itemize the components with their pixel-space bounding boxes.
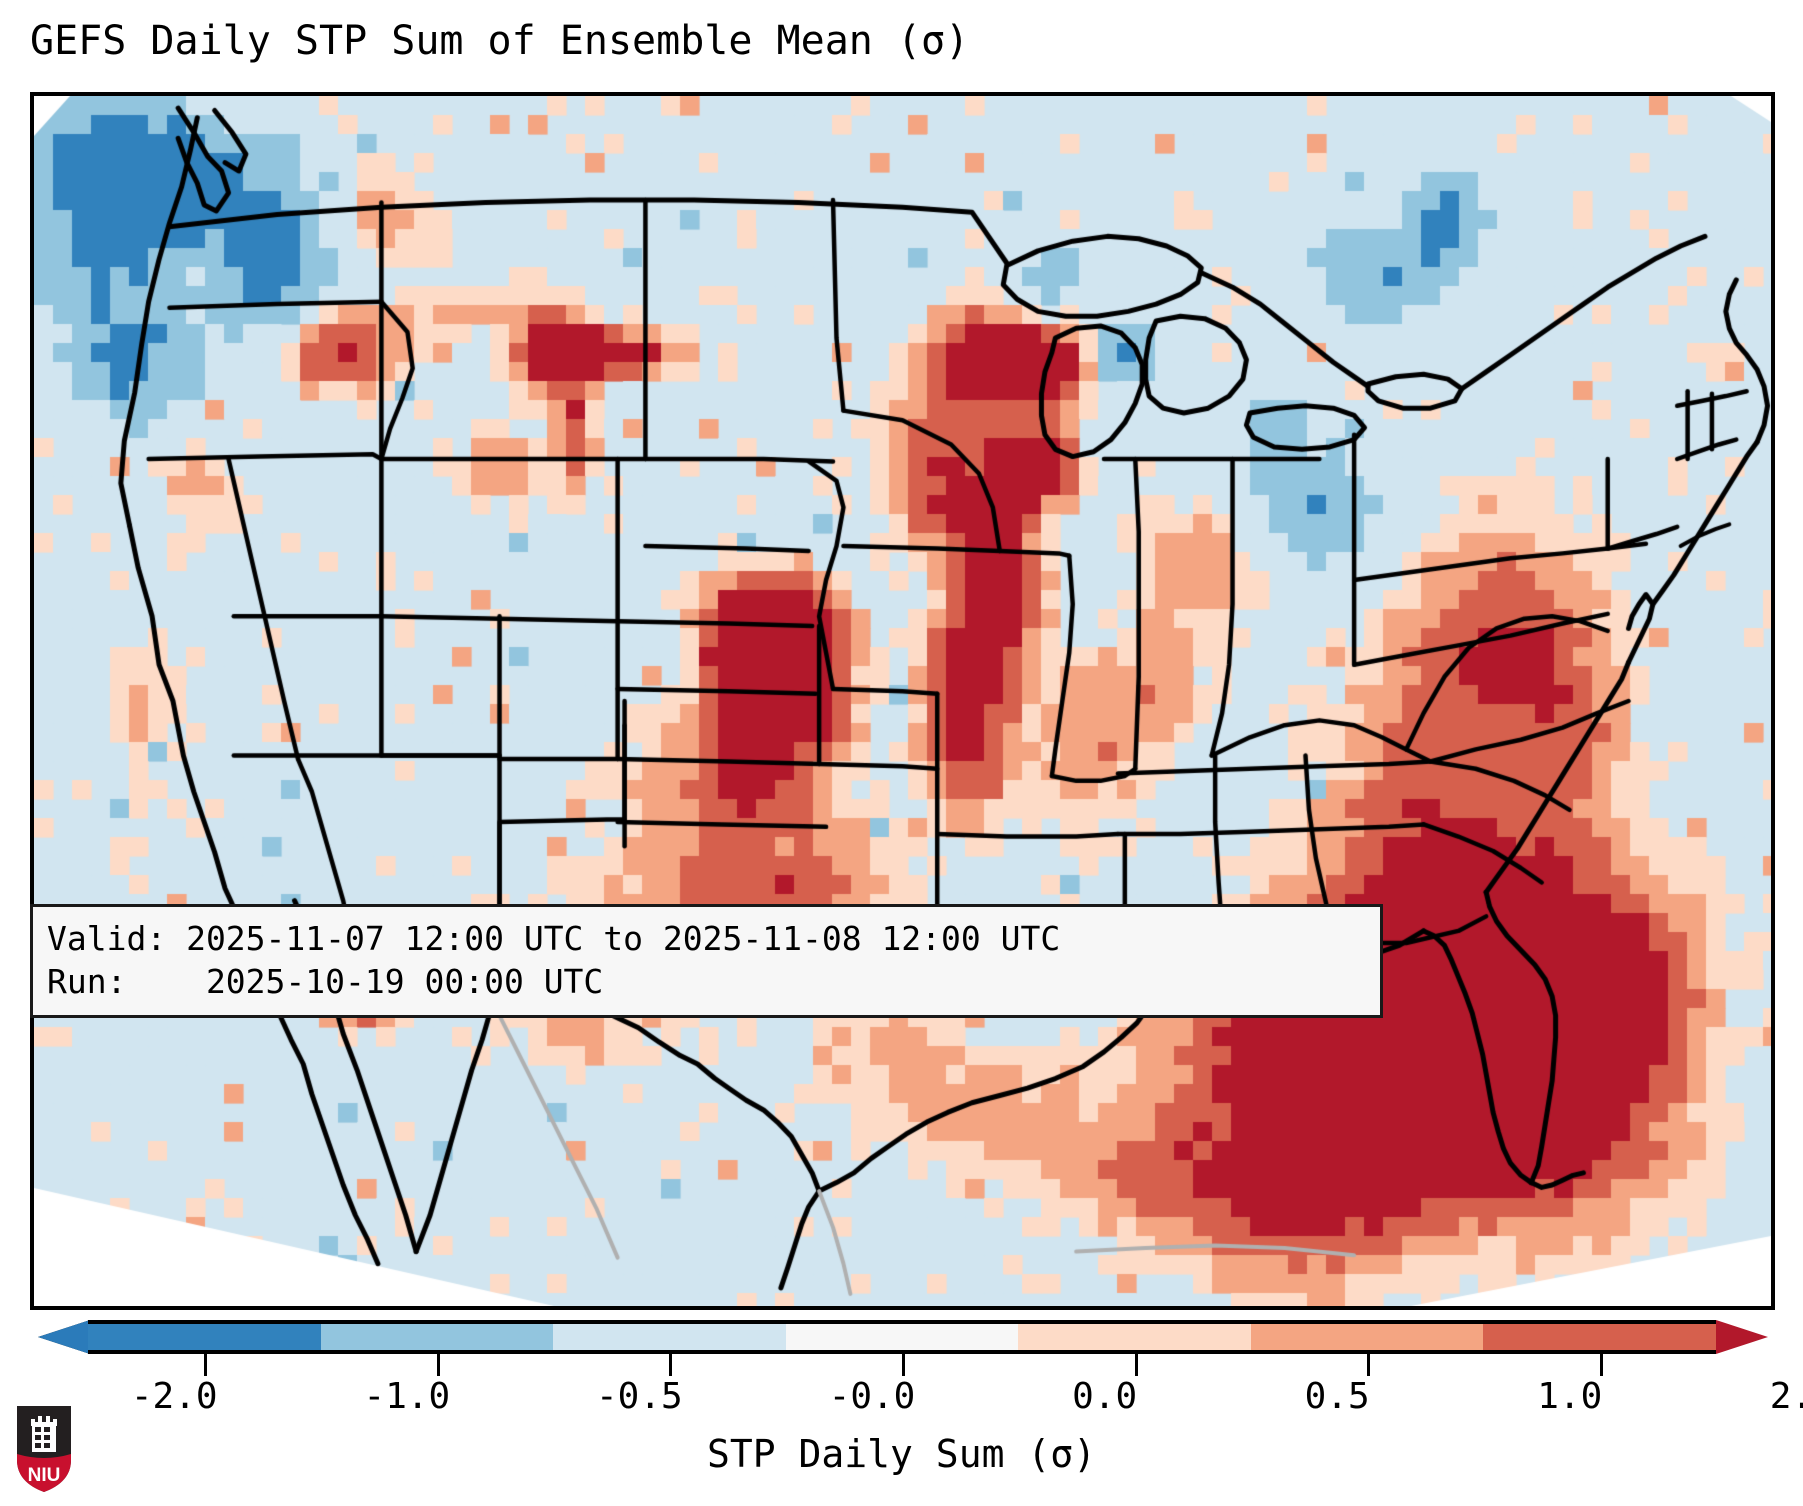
colorbar-tick-label-3: -0.0 [829, 1376, 916, 1417]
colorbar-tick-label-5: 0.5 [1305, 1376, 1370, 1417]
colorbar-axis-label: STP Daily Sum (σ) [0, 1432, 1803, 1476]
colorbar-segment-1 [321, 1324, 554, 1350]
colorbar-segment-0 [88, 1324, 321, 1350]
niu-logo-text: NIU [28, 1465, 61, 1486]
colorbar-tick-label-0: -2.0 [131, 1376, 218, 1417]
colorbar-tick-label-4: 0.0 [1072, 1376, 1137, 1417]
map-panel [30, 92, 1775, 1310]
colorbar-segment-4 [1018, 1324, 1251, 1350]
run-time-line: Run: 2025-10-19 00:00 UTC [47, 960, 1366, 1003]
valid-run-info-box: Valid: 2025-11-07 12:00 UTC to 2025-11-0… [30, 904, 1383, 1018]
colorbar-tick-label-1: -1.0 [364, 1376, 451, 1417]
colorbar-segment-3 [786, 1324, 1019, 1350]
colorbar-tick-label-7: 2.0 [1770, 1376, 1803, 1417]
colorbar-segment-5 [1251, 1324, 1484, 1350]
colorbar-tick-0 [204, 1354, 207, 1376]
valid-time-line: Valid: 2025-11-07 12:00 UTC to 2025-11-0… [47, 917, 1366, 960]
colorbar-tick-2 [669, 1354, 672, 1376]
colorbar-tick-3 [902, 1354, 905, 1376]
colorbar-over-arrow-icon [1716, 1320, 1768, 1354]
niu-shield-logo: NIU [14, 1402, 74, 1494]
colorbar-segment-6 [1483, 1324, 1716, 1350]
colorbar-tick-5 [1367, 1354, 1370, 1376]
stp-heatmap-canvas [34, 96, 1771, 1306]
colorbar-ticks [88, 1354, 1716, 1376]
colorbar-tick-1 [437, 1354, 440, 1376]
colorbar [30, 1320, 1775, 1366]
colorbar-gradient [88, 1320, 1716, 1354]
colorbar-tick-label-6: 1.0 [1537, 1376, 1602, 1417]
colorbar-tick-4 [1135, 1354, 1138, 1376]
colorbar-tick-labels: -2.0-1.0-0.5-0.00.00.51.02.0 [58, 1376, 1686, 1422]
colorbar-segment-2 [553, 1324, 786, 1350]
page-title: GEFS Daily STP Sum of Ensemble Mean (σ) [30, 18, 969, 64]
colorbar-under-arrow-icon [38, 1320, 90, 1354]
colorbar-tick-6 [1600, 1354, 1603, 1376]
colorbar-tick-label-2: -0.5 [596, 1376, 683, 1417]
